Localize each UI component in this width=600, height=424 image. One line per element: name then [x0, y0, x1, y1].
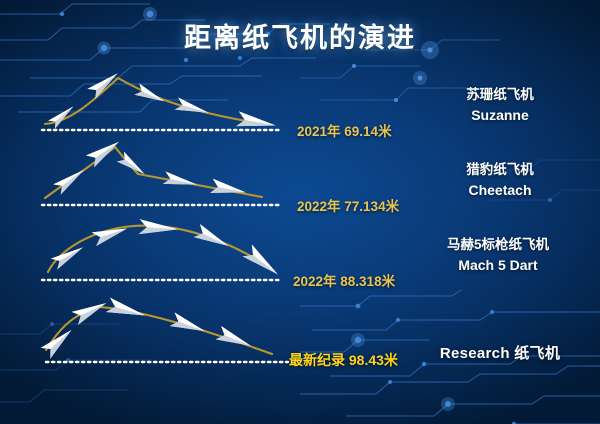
paper-plane-icon [92, 222, 130, 246]
paper-plane-icon [106, 298, 147, 323]
paper-plane-icon [163, 171, 198, 190]
paper-plane-icon [53, 165, 87, 195]
paper-plane-icon [139, 219, 179, 237]
trajectory-path-1 [45, 78, 252, 124]
record-name-1: 苏珊纸飞机 Suzanne [410, 85, 590, 125]
paper-plane-icon [170, 312, 208, 337]
trajectory-chart-4 [0, 288, 300, 378]
paper-plane-icon [41, 325, 76, 359]
paper-plane-icon [86, 136, 123, 167]
record-row-2: 2022年 77.134米 猎豹纸飞机 Cheetach [0, 133, 600, 208]
record-row-4: 最新纪录 98.43米 Research 纸飞机 [0, 288, 600, 378]
record-name-en-3: Mach 5 Dart [400, 255, 596, 275]
trajectory-chart-3 [0, 208, 290, 288]
infographic-canvas: 距离纸飞机的演进 [0, 0, 600, 424]
record-name-3: 马赫5标枪纸飞机 Mach 5 Dart [400, 235, 596, 275]
trajectory-chart-1 [0, 58, 290, 138]
record-name-en-1: Suzanne [410, 105, 590, 125]
record-row-3: 2022年 88.318米 马赫5标枪纸飞机 Mach 5 Dart [0, 208, 600, 283]
measurement-label-3: 2022年 88.318米 [293, 270, 395, 290]
record-name-4: Research 纸飞机 [404, 342, 596, 363]
paper-plane-icon [87, 68, 121, 99]
record-name-cn-2: 猎豹纸飞机 [410, 160, 590, 180]
paper-plane-icon [72, 297, 110, 325]
record-name-en-2: Cheetach [410, 180, 590, 200]
record-name-2: 猎豹纸飞机 Cheetach [410, 160, 590, 200]
record-row-1: 2021年 69.14米 苏珊纸飞机 Suzanne [0, 58, 600, 133]
paper-plane-icon [51, 242, 86, 270]
paper-plane-icon [134, 84, 166, 107]
paper-plane-icon [210, 179, 247, 200]
page-title: 距离纸飞机的演进 [0, 16, 600, 55]
paper-plane-icon [175, 97, 211, 118]
record-name-cn-1: 苏珊纸飞机 [410, 85, 590, 105]
trajectory-chart-2 [0, 133, 290, 213]
paper-plane-icon [243, 245, 283, 281]
measurement-label-4: 最新纪录 98.43米 [289, 350, 398, 370]
record-name-cn-3: 马赫5标枪纸飞机 [400, 235, 596, 255]
paper-plane-icon [194, 224, 232, 252]
paper-plane-icon [216, 326, 254, 352]
record-name-en-4: Research 纸飞机 [404, 342, 596, 363]
